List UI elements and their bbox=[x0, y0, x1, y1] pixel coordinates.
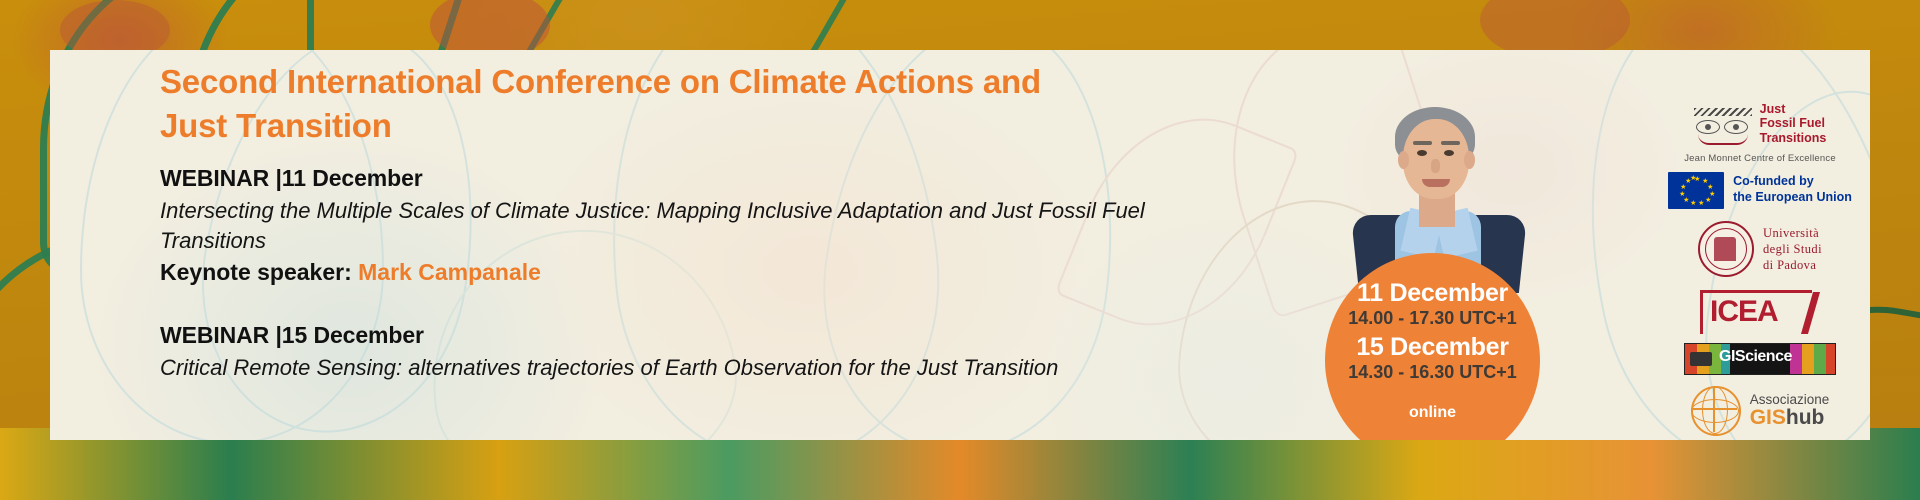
logo-giscience[interactable]: GIScience bbox=[1684, 342, 1836, 376]
logo-icea[interactable]: ICEA bbox=[1700, 288, 1820, 336]
gishub-line-1: Associazione bbox=[1750, 393, 1830, 407]
giscience-banner: GIScience bbox=[1684, 343, 1836, 375]
session-subtitle-1-line-1: Intersecting the Multiple Scales of Clim… bbox=[160, 198, 1096, 223]
eye-left-icon bbox=[1696, 120, 1720, 134]
session-subtitle-2: Critical Remote Sensing: alternatives tr… bbox=[160, 353, 1240, 382]
keynote-line: Keynote speaker: Mark Campanale bbox=[160, 259, 1240, 286]
icea-left-rule bbox=[1700, 290, 1703, 334]
logo-just-fossil-fuel-transitions[interactable]: Just Fossil Fuel Transitions Jean Monnet… bbox=[1684, 102, 1836, 164]
giscience-wordmark: GIScience bbox=[1719, 348, 1792, 366]
session-block-1: WEBINAR |11 December Intersecting the Mu… bbox=[160, 165, 1240, 286]
badge-date-1: 11 December bbox=[1357, 279, 1508, 307]
badge-mode: online bbox=[1409, 404, 1456, 422]
keynote-speaker-name: Mark Campanale bbox=[358, 259, 541, 285]
session-block-2: WEBINAR |15 December Critical Remote Sen… bbox=[160, 322, 1240, 382]
eu-wordmark: Co-funded by the European Union bbox=[1733, 174, 1852, 205]
eyebrow-left bbox=[1413, 141, 1432, 145]
jfft-line-3: Transitions bbox=[1760, 131, 1827, 145]
star: ★ bbox=[1707, 184, 1713, 191]
jfft-wordmark: Just Fossil Fuel Transitions bbox=[1760, 102, 1827, 145]
star: ★ bbox=[1690, 175, 1696, 182]
meridian bbox=[1691, 399, 1739, 423]
crest-figures bbox=[1714, 237, 1736, 261]
gishub-hub: hub bbox=[1786, 406, 1824, 429]
unipd-line-3: di Padova bbox=[1763, 257, 1822, 273]
webinar-label-2: WEBINAR |15 December bbox=[160, 322, 1240, 349]
keynote-label: Keynote speaker: bbox=[160, 259, 358, 285]
pupil bbox=[1705, 124, 1711, 130]
nose bbox=[1431, 159, 1440, 173]
logo-european-union[interactable]: ★ ★ ★ ★ ★ ★ ★ ★ ★ ★ ★ ★ Co-funded by the… bbox=[1668, 170, 1852, 210]
mouth bbox=[1422, 179, 1450, 187]
webinar-label-1: WEBINAR |11 December bbox=[160, 165, 1240, 192]
jfft-line-2: Fossil Fuel bbox=[1760, 116, 1827, 130]
banner-card: Second International Conference on Clima… bbox=[50, 50, 1870, 440]
ear-right bbox=[1464, 151, 1475, 169]
icea-top-rule bbox=[1700, 290, 1812, 293]
gishub-wordmark: Associazione GIShub bbox=[1750, 393, 1830, 429]
title-line-1: Second International Conference on Clima… bbox=[160, 60, 1240, 104]
icea-slash-icon bbox=[1801, 292, 1820, 334]
star: ★ bbox=[1690, 200, 1696, 207]
sponsor-logos: Just Fossil Fuel Transitions Jean Monnet… bbox=[1635, 102, 1870, 440]
logo-universita-di-padova[interactable]: Università degli Studi di Padova bbox=[1698, 216, 1822, 282]
card-content: Second International Conference on Clima… bbox=[160, 60, 1240, 383]
star: ★ bbox=[1679, 191, 1685, 198]
padova-crest-icon bbox=[1698, 221, 1754, 277]
date-badge: 11 December 14.00 - 17.30 UTC+1 15 Decem… bbox=[1325, 253, 1540, 440]
un-emblem-icon bbox=[1690, 352, 1712, 366]
title-line-2: Just Transition bbox=[160, 104, 1240, 148]
globe-icon bbox=[1691, 386, 1741, 436]
star: ★ bbox=[1680, 184, 1686, 191]
star: ★ bbox=[1683, 197, 1689, 204]
eye-right-icon bbox=[1724, 120, 1748, 134]
unipd-wordmark: Università degli Studi di Padova bbox=[1763, 225, 1822, 274]
eyes-icon bbox=[1694, 108, 1752, 140]
gishub-gis: GIS bbox=[1750, 406, 1786, 429]
ear-left bbox=[1398, 151, 1409, 169]
badge-time-2: 14.30 - 16.30 UTC+1 bbox=[1348, 361, 1517, 384]
jfft-line-1: Just bbox=[1760, 102, 1827, 116]
page-title: Second International Conference on Clima… bbox=[160, 60, 1240, 147]
pupil bbox=[1733, 124, 1739, 130]
star: ★ bbox=[1698, 200, 1704, 207]
smile-curve bbox=[1698, 134, 1748, 145]
gishub-line-2: GIShub bbox=[1750, 407, 1830, 429]
eu-line-2: the European Union bbox=[1733, 190, 1852, 206]
eye-left bbox=[1417, 150, 1427, 156]
speaker-and-badge: 11 December 14.00 - 17.30 UTC+1 15 Decem… bbox=[1325, 105, 1540, 440]
logo-associazione-gishub[interactable]: Associazione GIShub bbox=[1691, 382, 1830, 440]
zigzag-pattern bbox=[1694, 108, 1752, 116]
session-subtitle-1: Intersecting the Multiple Scales of Clim… bbox=[160, 196, 1240, 255]
unipd-line-2: degli Studi bbox=[1763, 241, 1822, 257]
eyebrow-right bbox=[1441, 141, 1460, 145]
unipd-line-1: Università bbox=[1763, 225, 1822, 241]
badge-time-1: 14.00 - 17.30 UTC+1 bbox=[1348, 307, 1517, 330]
badge-date-2: 15 December bbox=[1356, 333, 1508, 361]
jfft-tagline: Jean Monnet Centre of Excellence bbox=[1684, 153, 1836, 164]
star: ★ bbox=[1705, 197, 1711, 204]
icea-wordmark: ICEA bbox=[1710, 294, 1778, 330]
eu-line-1: Co-funded by bbox=[1733, 174, 1852, 190]
jfft-row: Just Fossil Fuel Transitions bbox=[1694, 102, 1827, 145]
icea-mark: ICEA bbox=[1700, 290, 1820, 334]
eye-right bbox=[1444, 150, 1454, 156]
eu-flag-icon: ★ ★ ★ ★ ★ ★ ★ ★ ★ ★ ★ ★ bbox=[1668, 172, 1724, 209]
